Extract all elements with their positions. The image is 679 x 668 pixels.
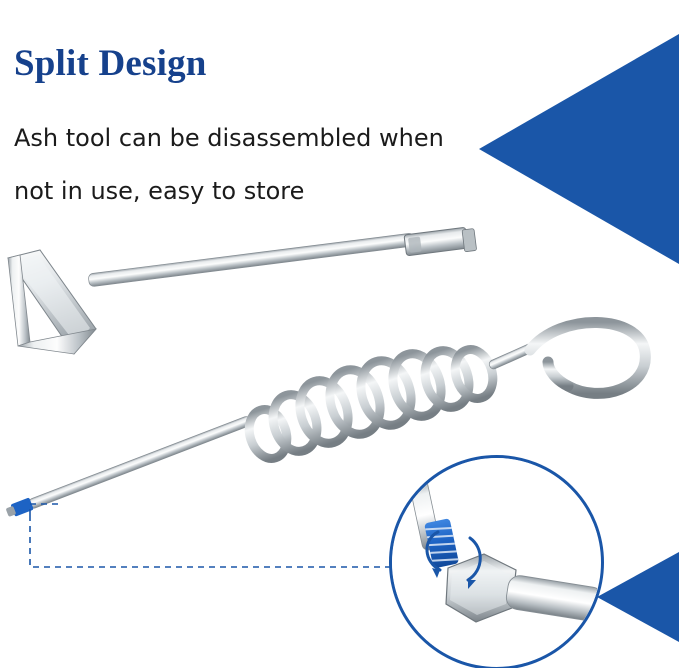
description-line-2: not in use, easy to store	[14, 165, 534, 218]
rake-end-cap	[462, 228, 477, 251]
ash-rake-part	[8, 227, 477, 354]
detail-illustration	[392, 458, 597, 663]
description-text: Ash tool can be disassembled when not in…	[14, 112, 534, 218]
detail-callout-circle	[389, 455, 604, 668]
product-feature-image: Split Design Ash tool can be disassemble…	[0, 0, 679, 668]
page-title: Split Design	[14, 42, 207, 86]
rake-shaft	[88, 233, 415, 287]
loop-grip-tail	[548, 362, 568, 386]
threaded-screw-tip	[5, 497, 34, 518]
handle-rod	[28, 415, 252, 509]
description-line-1: Ash tool can be disassembled when	[14, 112, 534, 165]
coupling-seam	[408, 236, 422, 252]
coil-spring	[243, 345, 499, 464]
